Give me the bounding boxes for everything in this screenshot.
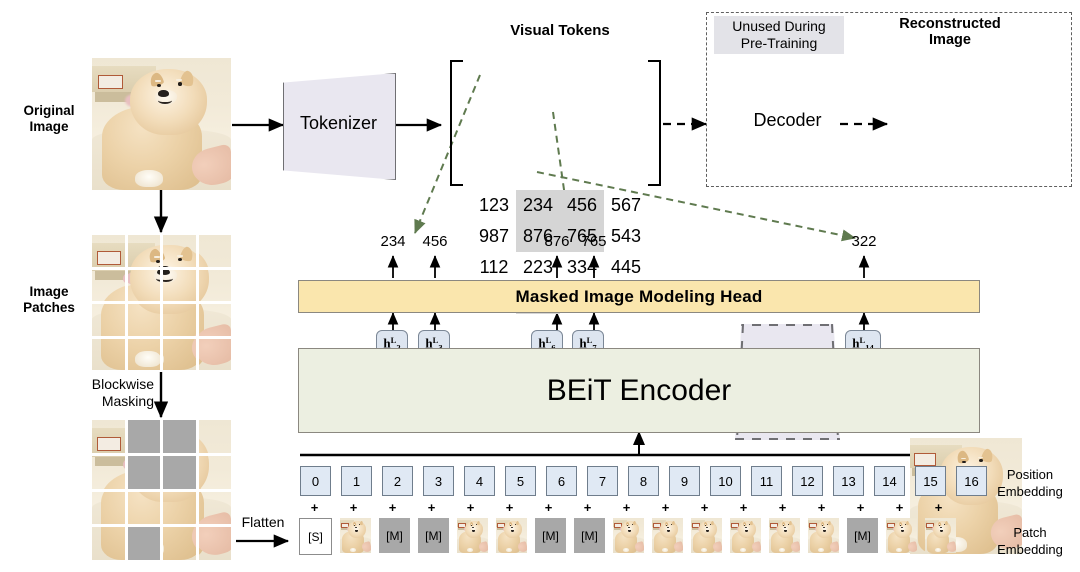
reconstructed-image-label: Reconstructed Image — [880, 16, 1020, 48]
plus-symbol: + — [339, 500, 368, 515]
patch-cell — [199, 456, 232, 489]
blockwise-masking-label-line2: Masking — [58, 393, 154, 410]
visual-token-cell: 567 — [604, 190, 648, 221]
masked-patch-cell — [128, 527, 161, 560]
patch-embedding-box — [457, 518, 488, 553]
visual-token-cell: 334 — [560, 252, 604, 283]
plus-symbol: + — [417, 500, 446, 515]
patch-cell — [199, 270, 232, 302]
masked-patch-cell — [128, 456, 161, 489]
visual-token-row: 123234456567 — [472, 190, 658, 221]
position-embedding-box: 11 — [751, 466, 782, 496]
unused-during-pretraining-label: Unused During Pre-Training — [714, 16, 844, 54]
patch-cell — [128, 492, 161, 525]
image-patch-grid — [92, 235, 231, 370]
patch-embedding-box — [730, 518, 761, 553]
patch-cell — [163, 492, 196, 525]
unused-label-line2: Pre-Training — [718, 35, 840, 52]
visual-token-cell: 223 — [516, 252, 560, 283]
position-embedding-box: 15 — [915, 466, 946, 496]
patch-embedding-box — [652, 518, 683, 553]
patch-cell — [92, 235, 125, 267]
visual-tokens-title: Visual Tokens — [460, 23, 660, 39]
unused-label-line1: Unused During — [718, 18, 840, 35]
patch-cell — [163, 235, 196, 267]
predicted-token: 322 — [842, 233, 886, 250]
tokenizer-label: Tokenizer — [283, 113, 394, 134]
patch-cell — [128, 304, 161, 336]
beit-encoder-block: BEiT Encoder — [298, 348, 980, 433]
position-embedding-box: 9 — [669, 466, 700, 496]
plus-symbol: + — [300, 500, 329, 515]
patch-embedding-box — [613, 518, 644, 553]
patch-cell — [199, 527, 232, 560]
reconstructed-label-line2: Image — [880, 32, 1020, 48]
patch-cell — [163, 304, 196, 336]
plus-symbol: + — [846, 500, 875, 515]
patch-embedding-box — [496, 518, 527, 553]
position-embedding-box: 8 — [628, 466, 659, 496]
patch-cell — [163, 339, 196, 371]
predicted-token: 765 — [572, 233, 616, 250]
position-embedding-box: 2 — [382, 466, 413, 496]
original-image-label-line2: Image — [6, 119, 92, 135]
position-embedding-box: 4 — [464, 466, 495, 496]
position-embedding-box: 5 — [505, 466, 536, 496]
patch-embedding-box — [925, 518, 956, 553]
visual-token-cell: 234 — [516, 190, 560, 221]
patch-embedding-label-line2: Embedding — [982, 541, 1078, 558]
patch-cell — [199, 304, 232, 336]
patch-cell — [199, 492, 232, 525]
plus-symbol-row: +++++++++++++++++ — [300, 500, 953, 515]
mask-token-box: [M] — [418, 518, 449, 553]
original-image-label: Original Image — [6, 103, 92, 135]
beit-encoder-label: BEiT Encoder — [547, 374, 732, 408]
patch-embedding-label-line1: Patch — [982, 524, 1078, 541]
position-embedding-box: 6 — [546, 466, 577, 496]
reconstructed-label-line1: Reconstructed — [880, 16, 1020, 32]
mask-token-box: [M] — [574, 518, 605, 553]
patch-cell — [92, 339, 125, 371]
position-embedding-label: Position Embedding — [982, 466, 1078, 500]
position-embedding-label-line2: Embedding — [982, 483, 1078, 500]
patch-cell — [92, 420, 125, 453]
patch-cell — [163, 270, 196, 302]
masked-image-modeling-head: Masked Image Modeling Head — [298, 280, 980, 313]
masked-patch-cell — [128, 420, 161, 453]
masked-patch-cell — [163, 420, 196, 453]
patch-embedding-box — [769, 518, 800, 553]
predicted-token: 456 — [413, 233, 457, 250]
position-embedding-box: 7 — [587, 466, 618, 496]
start-token-box: [S] — [299, 518, 332, 555]
position-embedding-label-line1: Position — [982, 466, 1078, 483]
blockwise-masking-label: Blockwise Masking — [58, 376, 154, 410]
patch-embedding-box — [340, 518, 371, 553]
plus-symbol: + — [768, 500, 797, 515]
position-embedding-box: 10 — [710, 466, 741, 496]
plus-symbol: + — [378, 500, 407, 515]
visual-token-cell: 987 — [472, 221, 516, 252]
mask-token-box: [M] — [847, 518, 878, 553]
plus-symbol: + — [807, 500, 836, 515]
visual-token-cell: 445 — [604, 252, 648, 283]
position-embedding-box: 12 — [792, 466, 823, 496]
patch-cell — [92, 527, 125, 560]
plus-symbol: + — [651, 500, 680, 515]
patch-cell — [92, 270, 125, 302]
plus-symbol: + — [690, 500, 719, 515]
masked-patch-cell — [163, 456, 196, 489]
plus-symbol: + — [729, 500, 758, 515]
patch-cell — [128, 339, 161, 371]
masked-patch-grid — [92, 420, 231, 560]
image-patches-label-line1: Image — [6, 284, 92, 300]
mask-token-box: [M] — [535, 518, 566, 553]
blockwise-masking-label-line1: Blockwise — [58, 376, 154, 393]
patch-embedding-box — [808, 518, 839, 553]
image-patches-label-line2: Patches — [6, 300, 92, 316]
position-embedding-box: 3 — [423, 466, 454, 496]
plus-symbol: + — [495, 500, 524, 515]
mim-head-label: Masked Image Modeling Head — [515, 287, 762, 307]
patch-embedding-box — [691, 518, 722, 553]
visual-token-row: 112223334445 — [472, 252, 658, 283]
decoder-label: Decoder — [735, 110, 840, 131]
patch-cell — [163, 527, 196, 560]
image-patches-label: Image Patches — [6, 284, 92, 316]
original-image-photo — [92, 58, 231, 190]
visual-token-cell: 456 — [560, 190, 604, 221]
patch-embedding-label: Patch Embedding — [982, 524, 1078, 558]
patch-cell — [128, 235, 161, 267]
patch-embedding-row: [S][M][M][M][M][M] — [299, 518, 956, 555]
plus-symbol: + — [573, 500, 602, 515]
mask-token-box: [M] — [379, 518, 410, 553]
patch-cell — [199, 339, 232, 371]
patch-cell — [92, 456, 125, 489]
flatten-label: Flatten — [228, 514, 298, 531]
plus-symbol: + — [534, 500, 563, 515]
position-embedding-box: 1 — [341, 466, 372, 496]
predicted-token: 234 — [371, 233, 415, 250]
plus-symbol: + — [456, 500, 485, 515]
original-image-label-line1: Original — [6, 103, 92, 119]
position-embedding-box: 13 — [833, 466, 864, 496]
patch-embedding-box — [886, 518, 917, 553]
visual-token-cell: 123 — [472, 190, 516, 221]
matrix-right-bracket — [648, 60, 661, 186]
plus-symbol: + — [924, 500, 953, 515]
position-embedding-row: 012345678910111213141516 — [300, 466, 987, 496]
plus-symbol: + — [885, 500, 914, 515]
position-embedding-box: 14 — [874, 466, 905, 496]
matrix-left-bracket — [450, 60, 463, 186]
position-embedding-box: 0 — [300, 466, 331, 496]
patch-cell — [92, 492, 125, 525]
patch-cell — [128, 270, 161, 302]
patch-cell — [92, 304, 125, 336]
plus-symbol: + — [612, 500, 641, 515]
visual-token-cell: 112 — [472, 252, 516, 283]
patch-cell — [199, 235, 232, 267]
patch-cell — [199, 420, 232, 453]
